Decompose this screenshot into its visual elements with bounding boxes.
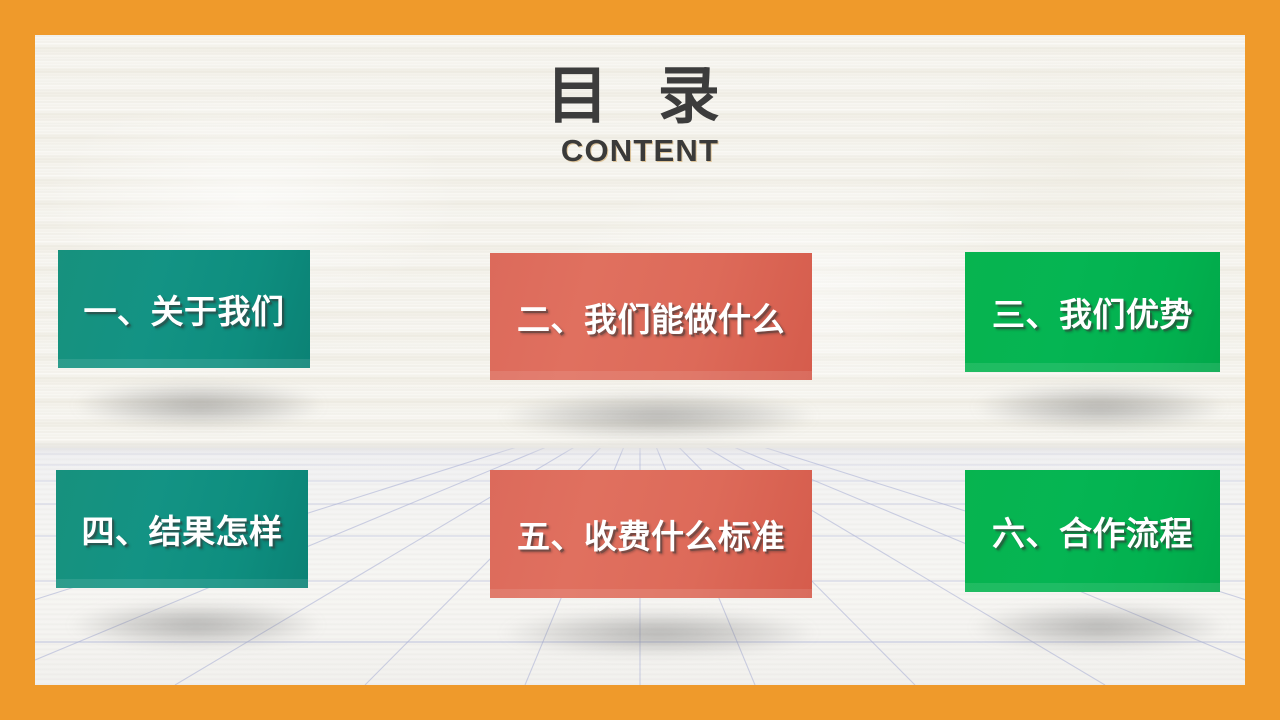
section-item-4[interactable]: 四、结果怎样 xyxy=(56,470,308,588)
section-label-3: 三、我们优势 xyxy=(992,288,1193,336)
presentation-slide: 目 录 CONTENT 一、关于我们 二、我们能做什么 三、我们优势 四、结果怎… xyxy=(0,0,1280,720)
slide-stage: 目 录 CONTENT 一、关于我们 二、我们能做什么 三、我们优势 四、结果怎… xyxy=(35,35,1245,685)
section-item-1[interactable]: 一、关于我们 xyxy=(58,250,310,368)
wall-background xyxy=(35,35,1245,448)
section-label-1: 一、关于我们 xyxy=(84,285,285,333)
section-label-4: 四、结果怎样 xyxy=(82,505,283,553)
wall-texture-overlay xyxy=(35,35,1245,448)
section-item-3[interactable]: 三、我们优势 xyxy=(965,252,1220,372)
section-label-6: 六、合作流程 xyxy=(992,507,1193,555)
section-label-2: 二、我们能做什么 xyxy=(517,293,785,341)
section-item-6[interactable]: 六、合作流程 xyxy=(965,470,1220,592)
section-label-5: 五、收费什么标准 xyxy=(517,510,785,558)
section-item-5[interactable]: 五、收费什么标准 xyxy=(490,470,812,598)
section-item-2[interactable]: 二、我们能做什么 xyxy=(490,253,812,380)
